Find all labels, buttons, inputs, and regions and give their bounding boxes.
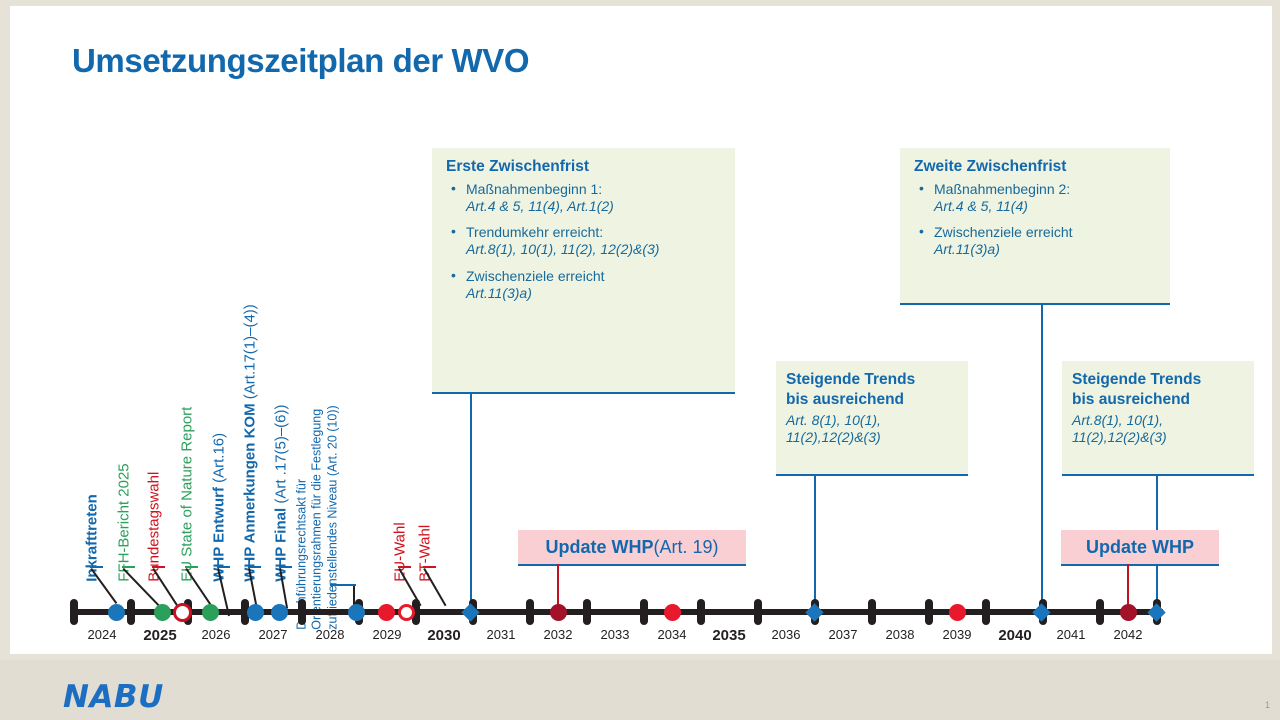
marker-2024-blue bbox=[108, 604, 125, 621]
year-label-2042: 2042 bbox=[1098, 627, 1158, 642]
update-label-regular: (Art. 19) bbox=[653, 537, 718, 558]
marker-2034-red bbox=[664, 604, 681, 621]
axis-tick bbox=[70, 599, 78, 625]
label-regular: (Art .17(5)–(6)) bbox=[272, 404, 289, 507]
label-regular: (Art.16) bbox=[210, 433, 227, 487]
marker-2028-blue bbox=[348, 604, 365, 621]
label-regular: EU State of Nature Report bbox=[178, 407, 195, 582]
list-item: • Maßnahmenbeginn 1: Art.4 & 5, 11(4), A… bbox=[446, 181, 723, 215]
callout-list: • Maßnahmenbeginn 2: Art.4 & 5, 11(4) • … bbox=[914, 181, 1158, 259]
item-article: Art.11(3)a) bbox=[466, 285, 723, 302]
update-label-bold: Update WHP bbox=[1086, 537, 1194, 558]
timeline-axis bbox=[70, 609, 1163, 615]
label-line-1: Durchführungsrechtsakt für bbox=[294, 405, 309, 629]
item-text: Zwischenziele erreicht bbox=[466, 268, 605, 284]
nabu-logo: NABU bbox=[63, 679, 164, 715]
update-connector-2042-red bbox=[1127, 564, 1129, 608]
event-label-whp-anmerkungen-kom: WHP Anmerkungen KOM (Art.17(1)–(4)) bbox=[242, 304, 258, 582]
year-label-2027: 2027 bbox=[243, 627, 303, 642]
page-title: Umsetzungszeitplan der WVO bbox=[72, 42, 529, 80]
slide-canvas: Umsetzungszeitplan der WVO Erste Zwische… bbox=[10, 6, 1272, 654]
list-item: • Zwischenziele erreicht Art.11(3)a) bbox=[914, 224, 1158, 258]
callout-title-line1: Steigende Trends bbox=[786, 371, 958, 389]
year-label-2026: 2026 bbox=[186, 627, 246, 642]
callout-title-line1: Steigende Trends bbox=[1072, 371, 1244, 389]
event-label-eu-state-of-nature-report: EU State of Nature Report bbox=[179, 407, 195, 582]
axis-tick bbox=[697, 599, 705, 625]
event-label-whp-entwurf: WHP Entwurf (Art.16) bbox=[211, 433, 227, 582]
label-line-3: zufriedenstellendes Niveau (Art. 20 (10)… bbox=[325, 405, 340, 629]
year-label-2035: 2035 bbox=[699, 627, 759, 644]
axis-tick bbox=[982, 599, 990, 625]
callout-underline bbox=[776, 474, 968, 476]
marker-2029-red bbox=[378, 604, 395, 621]
marker-2036-blue-diamond bbox=[808, 606, 821, 619]
bullet-icon: • bbox=[451, 223, 456, 240]
marker-2025-red-hollow bbox=[173, 603, 192, 622]
callout-erste-zwischenfrist: Erste Zwischenfrist • Maßnahmenbeginn 1:… bbox=[432, 148, 735, 392]
bullet-icon: • bbox=[919, 223, 924, 240]
axis-tick bbox=[925, 599, 933, 625]
update-whp-box-2042: Update WHP bbox=[1061, 530, 1219, 564]
year-label-2029: 2029 bbox=[357, 627, 417, 642]
marker-2029-red-hollow bbox=[398, 604, 415, 621]
marker-2026-green bbox=[202, 604, 219, 621]
item-article: Art.8(1), 10(1), 11(2), 12(2)&(3) bbox=[466, 241, 723, 258]
year-label-2031: 2031 bbox=[471, 627, 531, 642]
connector-inkrafttreten bbox=[90, 568, 117, 604]
year-label-2040: 2040 bbox=[985, 627, 1045, 644]
marker-2027a-blue bbox=[247, 604, 264, 621]
label-bold: WHP Anmerkungen KOM bbox=[241, 403, 258, 581]
callout-title-line2: bis ausreichend bbox=[786, 391, 958, 409]
update-label-bold: Update WHP bbox=[545, 537, 653, 558]
axis-tick bbox=[583, 599, 591, 625]
event-label-durchfuehrungsrechtsakt: Durchführungsrechtsakt für Orientierungs… bbox=[294, 405, 340, 629]
axis-tick bbox=[754, 599, 762, 625]
update-whp-box-2032: Update WHP (Art. 19) bbox=[518, 530, 746, 564]
marker-2030-blue-diamond bbox=[464, 606, 477, 619]
year-label-2041: 2041 bbox=[1041, 627, 1101, 642]
callout-steigende-trends-2037: Steigende Trends bis ausreichend Art. 8(… bbox=[776, 361, 968, 474]
marker-2027b-blue bbox=[271, 604, 288, 621]
marker-2032-darkred bbox=[550, 604, 567, 621]
label-regular: (Art.17(1)–(4)) bbox=[241, 304, 258, 403]
callout-underline bbox=[1062, 474, 1254, 476]
label-regular: FFH-Bericht 2025 bbox=[115, 463, 132, 581]
connector-bt-wahl bbox=[423, 568, 446, 606]
callout-underline bbox=[900, 303, 1170, 305]
marker-2039-red bbox=[949, 604, 966, 621]
update-underline-2042 bbox=[1061, 564, 1219, 566]
item-article: Art.11(3)a) bbox=[934, 241, 1158, 258]
year-label-2037: 2037 bbox=[813, 627, 873, 642]
year-label-2039: 2039 bbox=[927, 627, 987, 642]
year-label-2025: 2025 bbox=[130, 627, 190, 644]
callout-list: • Maßnahmenbeginn 1: Art.4 & 5, 11(4), A… bbox=[446, 181, 723, 302]
article-text: Art. 8(1), 10(1), 11(2),12(2)&(3) bbox=[786, 412, 958, 447]
year-label-2033: 2033 bbox=[585, 627, 645, 642]
footer-band bbox=[0, 660, 1280, 720]
bullet-icon: • bbox=[919, 180, 924, 197]
marker-2042-blue-diamond bbox=[1150, 606, 1163, 619]
bullet-icon: • bbox=[451, 180, 456, 197]
item-text: Zwischenziele erreicht bbox=[934, 224, 1073, 240]
year-label-2030: 2030 bbox=[414, 627, 474, 644]
callout-title-line2: bis ausreichend bbox=[1072, 391, 1244, 409]
list-item: • Zwischenziele erreicht Art.11(3)a) bbox=[446, 268, 723, 302]
article-text: Art.8(1), 10(1), 11(2),12(2)&(3) bbox=[1072, 412, 1244, 447]
axis-tick bbox=[640, 599, 648, 625]
item-article: Art.4 & 5, 11(4), Art.1(2) bbox=[466, 198, 723, 215]
callout-connector-2040 bbox=[1041, 303, 1043, 608]
year-label-2028: 2028 bbox=[300, 627, 360, 642]
year-label-2036: 2036 bbox=[756, 627, 816, 642]
callout-title: Erste Zwischenfrist bbox=[446, 158, 723, 176]
item-text: Maßnahmenbeginn 2: bbox=[934, 181, 1070, 197]
item-article: Art.4 & 5, 11(4) bbox=[934, 198, 1158, 215]
year-label-2034: 2034 bbox=[642, 627, 702, 642]
callout-article: Art.8(1), 10(1), 11(2),12(2)&(3) bbox=[1072, 412, 1244, 447]
update-connector-2032 bbox=[557, 564, 559, 608]
year-label-2032: 2032 bbox=[528, 627, 588, 642]
label-line-2: Orientierungsrahmen für die Festlegung bbox=[310, 405, 325, 629]
event-label-ffh-bericht: FFH-Bericht 2025 bbox=[116, 463, 132, 581]
year-label-2038: 2038 bbox=[870, 627, 930, 642]
update-underline-2032 bbox=[518, 564, 746, 566]
callout-connector-2030 bbox=[470, 392, 472, 607]
callout-underline bbox=[432, 392, 735, 394]
callout-title: Zweite Zwischenfrist bbox=[914, 158, 1158, 176]
marker-2040-blue-diamond bbox=[1035, 606, 1048, 619]
event-label-whp-final: WHP Final (Art .17(5)–(6)) bbox=[273, 404, 289, 581]
axis-tick bbox=[298, 599, 306, 625]
callout-zweite-zwischenfrist: Zweite Zwischenfrist • Maßnahmenbeginn 2… bbox=[900, 148, 1170, 303]
axis-tick bbox=[127, 599, 135, 625]
callout-steigende-trends-2042: Steigende Trends bis ausreichend Art.8(1… bbox=[1062, 361, 1254, 474]
marker-2042-darkred bbox=[1120, 604, 1137, 621]
list-item: • Trendumkehr erreicht: Art.8(1), 10(1),… bbox=[446, 224, 723, 258]
item-text: Maßnahmenbeginn 1: bbox=[466, 181, 602, 197]
callout-connector-2036 bbox=[814, 474, 816, 607]
year-label-2024: 2024 bbox=[72, 627, 132, 642]
item-text: Trendumkehr erreicht: bbox=[466, 224, 603, 240]
axis-tick bbox=[868, 599, 876, 625]
page-number: 1 bbox=[1265, 700, 1270, 710]
axis-tick bbox=[1096, 599, 1104, 625]
bullet-icon: • bbox=[451, 267, 456, 284]
callout-article: Art. 8(1), 10(1), 11(2),12(2)&(3) bbox=[786, 412, 958, 447]
marker-2025-green bbox=[154, 604, 171, 621]
axis-tick bbox=[526, 599, 534, 625]
list-item: • Maßnahmenbeginn 2: Art.4 & 5, 11(4) bbox=[914, 181, 1158, 215]
